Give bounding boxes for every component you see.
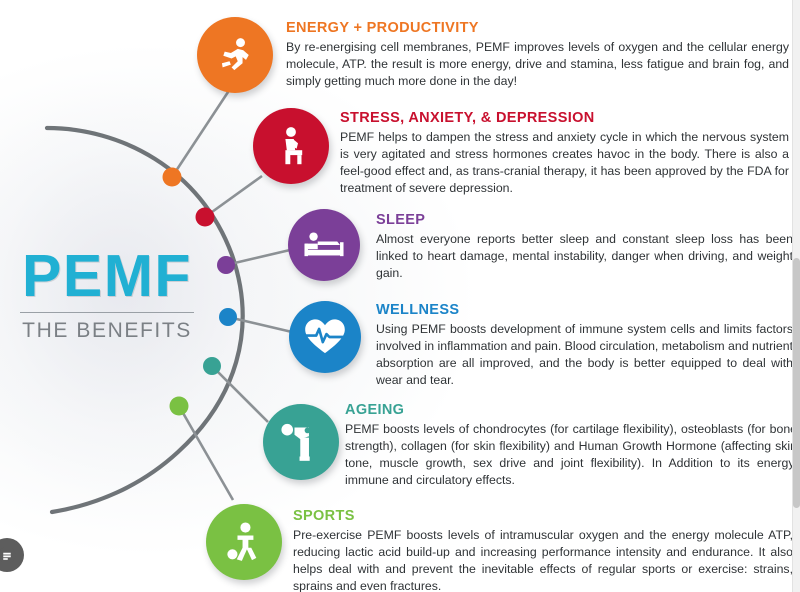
benefit-icon-sports	[206, 504, 282, 580]
heart-pulse-icon	[303, 316, 347, 358]
infographic-page: PEMF THE BENEFITS ENERGY + PRODUCTIVITY …	[0, 0, 800, 592]
benefit-body-energy: By re-energising cell membranes, PEMF im…	[286, 39, 789, 89]
logo-divider	[20, 312, 194, 313]
benefit-icon-ageing	[263, 404, 339, 480]
scrollbar-thumb[interactable]	[793, 258, 800, 508]
node-energy	[163, 168, 182, 187]
spoke-energy	[172, 86, 232, 177]
bone-joint-icon	[280, 420, 322, 464]
benefit-title-energy: ENERGY + PRODUCTIVITY	[286, 20, 789, 37]
logo-subtitle: THE BENEFITS	[14, 319, 200, 342]
pemf-logo: PEMF THE BENEFITS	[14, 248, 200, 342]
benefit-icon-sleep	[288, 209, 360, 281]
benefit-body-wellness: Using PEMF boosts development of immune …	[376, 321, 793, 388]
node-stress	[196, 208, 215, 227]
benefit-title-ageing: AGEING	[345, 402, 797, 419]
footballer-icon	[223, 520, 265, 564]
logo-title: PEMF	[14, 248, 200, 305]
benefit-block-sports: SPORTS Pre-exercise PEMF boosts levels o…	[293, 508, 793, 592]
benefit-icon-stress	[253, 108, 329, 184]
node-sports	[170, 397, 189, 416]
node-ageing	[203, 357, 221, 375]
spoke-sleep	[226, 250, 290, 265]
seated-person-icon	[271, 125, 311, 167]
benefit-title-sleep: SLEEP	[376, 212, 793, 229]
spoke-ageing	[212, 366, 268, 422]
benefit-body-ageing: PEMF boosts levels of chondrocytes (for …	[345, 421, 797, 488]
benefit-title-sports: SPORTS	[293, 508, 793, 525]
benefit-title-stress: STRESS, ANXIETY, & DEPRESSION	[340, 110, 789, 127]
benefit-block-wellness: WELLNESS Using PEMF boosts development o…	[376, 302, 793, 389]
benefit-block-ageing: AGEING PEMF boosts levels of chondrocyte…	[345, 402, 797, 489]
benefit-title-wellness: WELLNESS	[376, 302, 793, 319]
spoke-wellness	[228, 317, 292, 332]
benefit-icon-energy	[197, 17, 273, 93]
running-person-icon	[213, 33, 257, 77]
benefit-block-sleep: SLEEP Almost everyone reports better sle…	[376, 212, 793, 282]
benefit-body-stress: PEMF helps to dampen the stress and anxi…	[340, 129, 789, 196]
benefit-icon-wellness	[289, 301, 361, 373]
spoke-stress	[205, 176, 262, 217]
accessibility-badge-icon	[0, 546, 16, 564]
person-in-bed-icon	[301, 228, 347, 262]
node-wellness	[219, 308, 237, 326]
benefit-body-sports: Pre-exercise PEMF boosts levels of intra…	[293, 527, 793, 592]
benefit-block-energy: ENERGY + PRODUCTIVITY By re-energising c…	[286, 20, 789, 90]
benefit-block-stress: STRESS, ANXIETY, & DEPRESSION PEMF helps…	[340, 110, 789, 197]
benefit-body-sleep: Almost everyone reports better sleep and…	[376, 231, 793, 281]
node-sleep	[217, 256, 235, 274]
